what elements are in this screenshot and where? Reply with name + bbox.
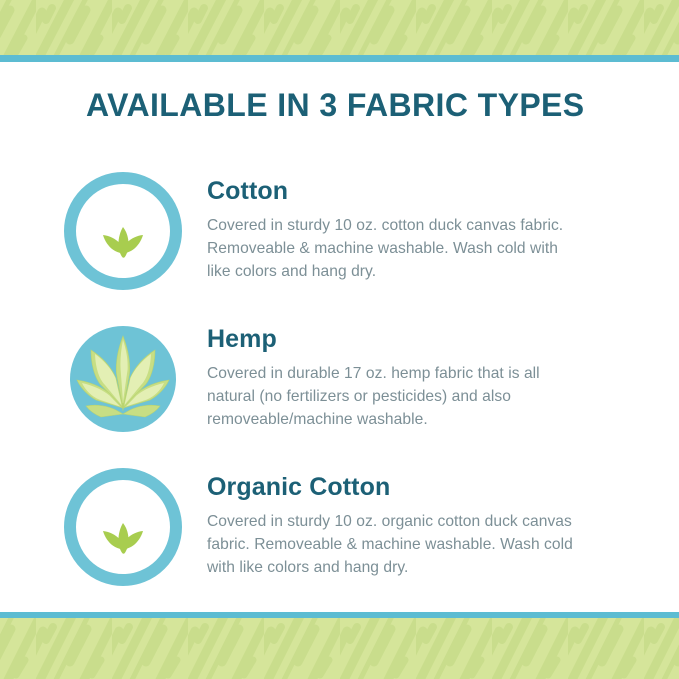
fabric-text-block: Hemp Covered in durable 17 oz. hemp fabr… (182, 308, 577, 431)
fabric-name: Cotton (207, 178, 577, 204)
hemp-leaf-icon (64, 320, 182, 438)
fabric-name: Organic Cotton (207, 474, 577, 500)
bottom-band-diagonal-stripe-pattern (0, 618, 679, 679)
page-title: AVAILABLE IN 3 FABRIC TYPES (86, 88, 616, 123)
fabric-row: Organic Cotton Covered in sturdy 10 oz. … (0, 456, 679, 586)
bottom-band-blue-rule (0, 612, 679, 618)
fabric-description: Covered in sturdy 10 oz. organic cotton … (207, 510, 577, 579)
bottom-decorative-band (0, 612, 679, 679)
fabric-text-block: Cotton Covered in sturdy 10 oz. cotton d… (182, 160, 577, 283)
top-band-blue-rule (0, 55, 679, 62)
fabric-description: Covered in durable 17 oz. hemp fabric th… (207, 362, 577, 431)
fabric-name: Hemp (207, 326, 577, 352)
fabric-type-list: Cotton Covered in sturdy 10 oz. cotton d… (0, 160, 679, 604)
top-decorative-band (0, 0, 679, 62)
fabric-row: Hemp Covered in durable 17 oz. hemp fabr… (0, 308, 679, 438)
organic-cotton-boll-icon (64, 468, 182, 586)
fabric-text-block: Organic Cotton Covered in sturdy 10 oz. … (182, 456, 577, 579)
fabric-description: Covered in sturdy 10 oz. cotton duck can… (207, 214, 577, 283)
cotton-boll-icon (64, 172, 182, 290)
top-band-diagonal-stripe-pattern (0, 0, 679, 55)
fabric-row: Cotton Covered in sturdy 10 oz. cotton d… (0, 160, 679, 290)
fabric-types-infographic: AVAILABLE IN 3 FABRIC TYPES Cotton Cover… (0, 0, 679, 679)
